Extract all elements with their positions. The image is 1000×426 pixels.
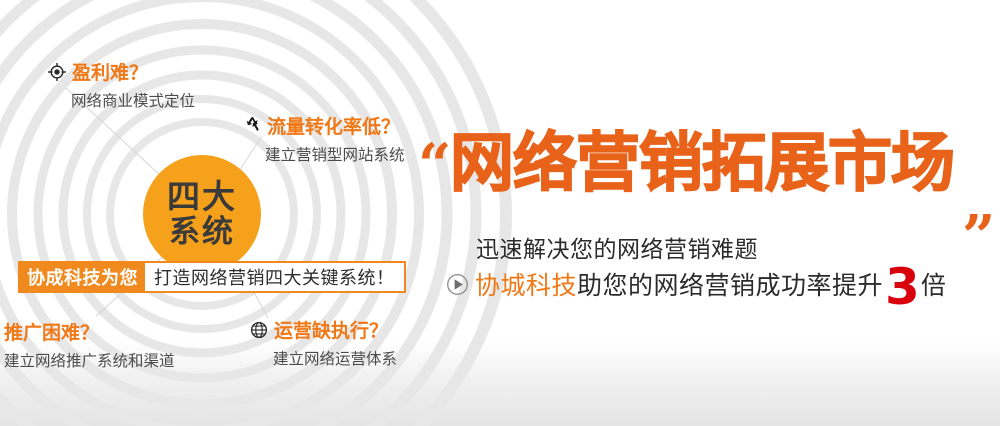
problem-item-traffic-sub: 建立营销型网站系统 — [265, 143, 405, 165]
page-title: 网络营销拓展市场 — [450, 132, 954, 196]
headline-row: “ 网络营销拓展市场 „ — [418, 132, 1000, 227]
core-circle-line1: 四大 — [167, 180, 237, 213]
banner-brand-tag: 协成科技为您 — [20, 263, 145, 291]
multiplier-number: 3 — [885, 267, 920, 307]
problem-item-profit: 盈利难？ 网络商业模式定位 — [48, 58, 195, 111]
problem-item-traffic: 流量转化率低？ 建立营销型网站系统 — [242, 112, 405, 165]
quote-open-mark: “ — [418, 136, 451, 194]
problem-item-traffic-title: 流量转化率低？ — [267, 112, 400, 139]
headline-subline-2: 协城科技 助您的网络营销成功率提升 3 倍 — [446, 264, 946, 304]
recycle-icon — [242, 116, 261, 135]
problem-item-traffic-head: 流量转化率低？ — [242, 112, 405, 139]
problem-item-promotion-title: 推广困难？ — [4, 318, 99, 345]
problem-item-promotion-head: 推广困难？ — [4, 318, 175, 345]
headline-block: “ 网络营销拓展市场 „ 迅速解决您的网络营销难题 协城科技 助您的网络营销成功… — [418, 132, 1000, 227]
problem-item-promotion: 推广困难？ 建立网络推广系统和渠道 — [4, 318, 175, 371]
problem-item-operations-title: 运营缺执行？ — [274, 316, 388, 343]
headline-brand-name: 协城科技 — [475, 266, 577, 302]
problem-item-operations-sub: 建立网络运营体系 — [273, 347, 397, 369]
banner-stage: 四大 系统 盈利难？ 网络商业模式定位 — [0, 0, 1000, 426]
globe-icon — [250, 321, 268, 339]
problem-item-promotion-sub: 建立网络推广系统和渠道 — [4, 349, 175, 371]
quote-close-mark: „ — [963, 174, 996, 232]
banner-message: 打造网络营销四大关键系统！ — [145, 263, 404, 291]
multiplier-unit: 倍 — [921, 266, 946, 302]
problem-item-profit-title: 盈利难？ — [72, 58, 148, 85]
key-systems-banner: 协成科技为您 打造网络营销四大关键系统！ — [18, 261, 406, 293]
problem-item-operations: 运营缺执行？ 建立网络运营体系 — [250, 316, 397, 369]
headline-subline-2-text: 助您的网络营销成功率提升 — [577, 266, 883, 302]
core-circle-line2: 系统 — [169, 217, 235, 248]
problem-item-operations-head: 运营缺执行？ — [250, 316, 397, 343]
problem-item-profit-head: 盈利难？ — [48, 58, 195, 85]
play-circle-icon — [446, 273, 469, 296]
core-circle: 四大 系统 — [143, 155, 261, 273]
headline-subline-1: 迅速解决您的网络营销难题 — [476, 230, 758, 264]
crosshair-target-icon — [48, 63, 66, 81]
problem-item-profit-sub: 网络商业模式定位 — [71, 89, 195, 111]
